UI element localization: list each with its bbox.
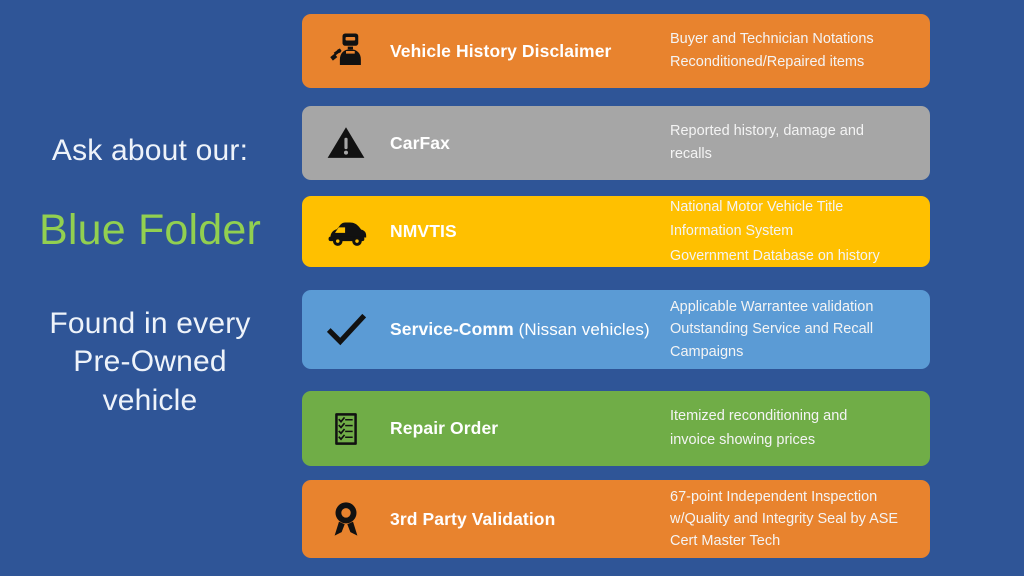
row-title: CarFax (390, 133, 670, 154)
row-title: Service-Comm (Nissan vehicles) (390, 319, 670, 340)
desc-line: Cert Master Tech (670, 530, 918, 552)
row-description: 67-point Independent Inspection w/Qualit… (670, 486, 930, 552)
found-line-3: vehicle (103, 384, 198, 417)
ask-about-our-heading: Ask about our: (0, 134, 300, 169)
row-title-main: Vehicle History Disclaimer (390, 41, 611, 61)
row-title: Vehicle History Disclaimer (390, 41, 670, 62)
feature-row-list: Vehicle History Disclaimer Buyer and Tec… (302, 0, 930, 576)
slide-canvas: Ask about our: Blue Folder Found in ever… (0, 0, 1024, 576)
row-title-main: CarFax (390, 133, 450, 153)
row-description: Reported history, damage and recalls (670, 120, 930, 167)
row-repair-order[interactable]: Repair Order Itemized reconditioning and… (302, 391, 930, 466)
row-title-main: NMVTIS (390, 221, 457, 241)
row-title: 3rd Party Validation (390, 509, 670, 530)
checklist-clipboard-icon (302, 409, 390, 449)
row-description: Itemized reconditioning and invoice show… (670, 405, 930, 452)
desc-line: 67-point Independent Inspection (670, 486, 918, 508)
found-line-1: Found in every (49, 307, 250, 340)
left-text-panel: Ask about our: Blue Folder Found in ever… (0, 0, 300, 576)
row-carfax[interactable]: CarFax Reported history, damage and reca… (302, 106, 930, 180)
desc-line: invoice showing prices (670, 429, 918, 452)
row-description: Buyer and Technician Notations Reconditi… (670, 28, 930, 75)
row-title-main: Service-Comm (390, 319, 514, 339)
row-title-suffix: (Nissan vehicles) (514, 320, 650, 339)
award-ribbon-icon (302, 498, 390, 540)
desc-line: Buyer and Technician Notations (670, 28, 918, 51)
found-line-2: Pre-Owned (73, 345, 227, 378)
row-nmvtis[interactable]: NMVTIS National Motor Vehicle Title Info… (302, 196, 930, 267)
row-title: Repair Order (390, 418, 670, 439)
row-title-main: Repair Order (390, 418, 498, 438)
desc-line: Campaigns (670, 341, 918, 363)
desc-line: w/Quality and Integrity Seal by ASE (670, 508, 918, 530)
desc-line: National Motor Vehicle Title (670, 195, 918, 220)
warning-triangle-icon (302, 122, 390, 164)
checkmark-icon (302, 307, 390, 353)
row-description: Applicable Warrantee validation Outstand… (670, 296, 930, 362)
row-title-main: 3rd Party Validation (390, 509, 555, 529)
row-3rd-party-validation[interactable]: 3rd Party Validation 67-point Independen… (302, 480, 930, 558)
row-title: NMVTIS (390, 221, 670, 242)
desc-line: Information System (670, 219, 918, 244)
found-in-every-vehicle-text: Found in every Pre-Owned vehicle (0, 305, 300, 420)
car-icon (302, 210, 390, 254)
desc-line: Government Database on history (670, 244, 918, 269)
row-service-comm[interactable]: Service-Comm (Nissan vehicles) Applicabl… (302, 290, 930, 369)
desc-line: Reconditioned/Repaired items (670, 51, 918, 74)
desc-line: Outstanding Service and Recall (670, 318, 918, 340)
desc-line: Applicable Warrantee validation (670, 296, 918, 318)
blue-folder-title: Blue Folder (0, 206, 300, 255)
welder-technician-icon (302, 30, 390, 72)
row-vehicle-history-disclaimer[interactable]: Vehicle History Disclaimer Buyer and Tec… (302, 14, 930, 88)
desc-line: Reported history, damage and (670, 120, 918, 143)
desc-line: Itemized reconditioning and (670, 405, 918, 428)
desc-line: recalls (670, 143, 918, 166)
row-description: National Motor Vehicle Title Information… (670, 195, 930, 269)
